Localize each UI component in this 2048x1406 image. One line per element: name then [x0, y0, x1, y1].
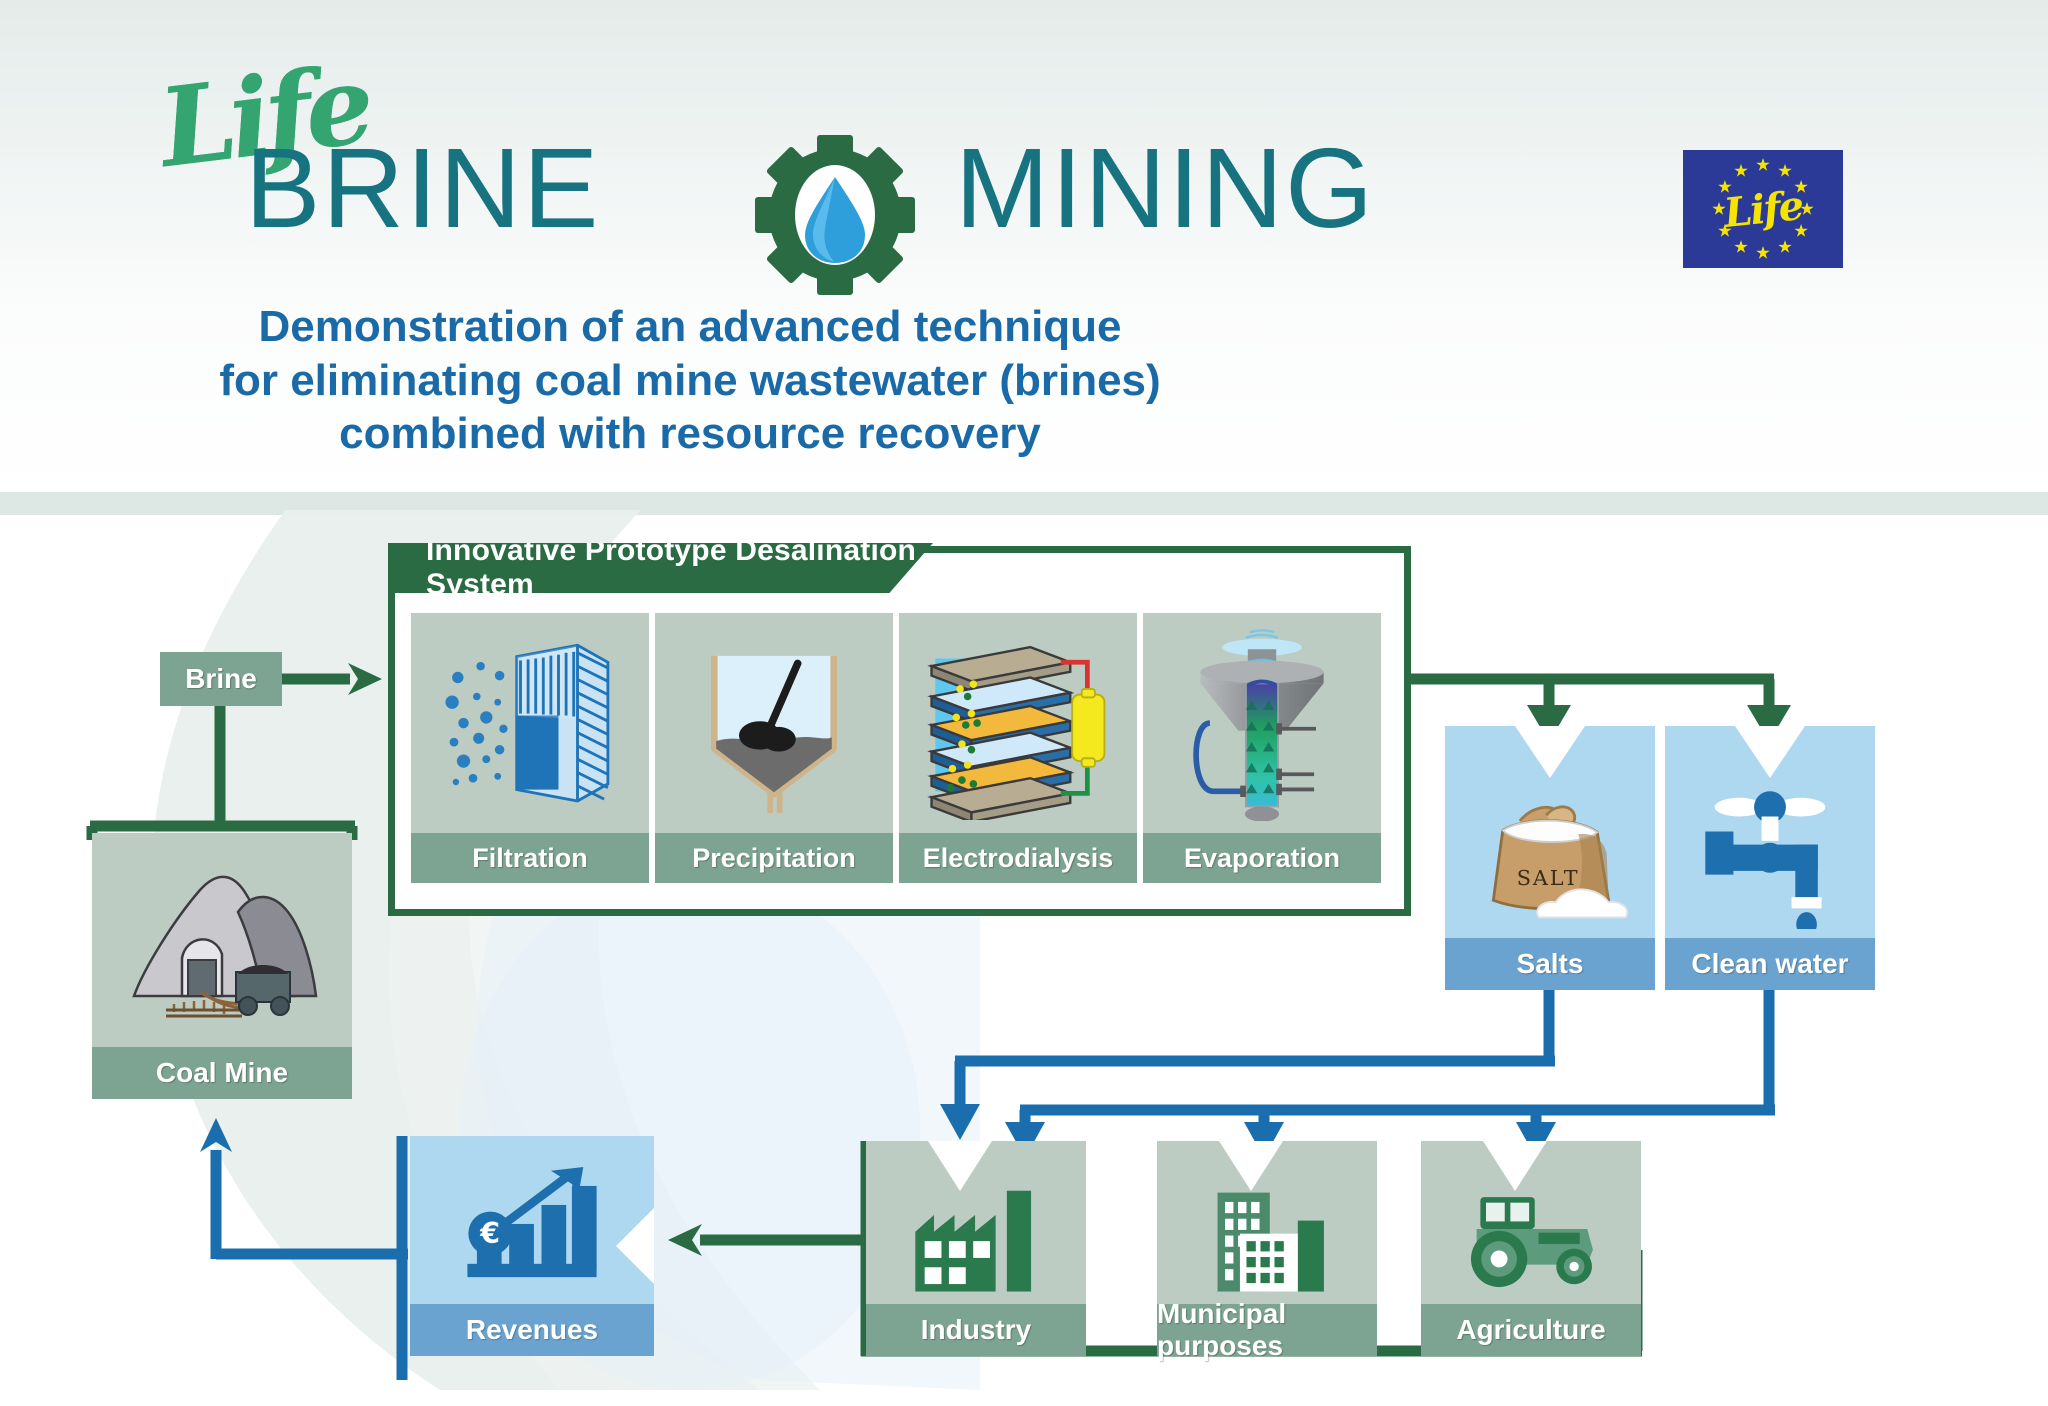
precipitation-tank-icon [655, 621, 893, 829]
salt-bag-icon: SALT [1445, 772, 1655, 936]
electrodialysis-stack-icon [899, 621, 1137, 829]
eu-life-flag-icon: Life [1683, 150, 1843, 268]
municipal-label: Municipal purposes [1157, 1304, 1377, 1356]
desalination-system-title: Innovative Prototype Desalination System [388, 543, 933, 593]
clean-water-label: Clean water [1665, 938, 1875, 990]
coal-mine-node[interactable]: Coal Mine [92, 833, 352, 1099]
subtitle-line-2: for eliminating coal mine wastewater (br… [0, 354, 1380, 408]
city-buildings-icon [1157, 1183, 1377, 1302]
clean-water-node[interactable]: Clean water [1665, 726, 1875, 990]
brine-label: Brine [185, 663, 257, 695]
industry-node[interactable]: Industry [866, 1141, 1086, 1356]
step-filtration[interactable]: Filtration [411, 613, 649, 883]
municipal-node[interactable]: Municipal purposes [1157, 1141, 1377, 1356]
agriculture-node[interactable]: Agriculture [1421, 1141, 1641, 1356]
evaporation-column-icon [1143, 621, 1381, 829]
tractor-icon [1421, 1183, 1641, 1302]
step-electrodialysis[interactable]: Electrodialysis [899, 613, 1137, 883]
project-logo: Life BRINE MINING [160, 40, 1220, 225]
industry-label: Industry [866, 1304, 1086, 1356]
salts-label: Salts [1445, 938, 1655, 990]
step-precipitation-label: Precipitation [655, 833, 893, 883]
logo-mining-text: MINING [955, 132, 1375, 245]
step-electrodialysis-label: Electrodialysis [899, 833, 1137, 883]
page-subtitle: Demonstration of an advanced technique f… [0, 300, 1380, 461]
coal-mine-icon [92, 841, 352, 1045]
step-filtration-label: Filtration [411, 833, 649, 883]
eu-life-label: Life [1677, 142, 1848, 276]
filtration-membrane-icon [411, 621, 649, 829]
subtitle-line-3: combined with resource recovery [0, 407, 1380, 461]
salts-node[interactable]: SALT Salts [1445, 726, 1655, 990]
step-precipitation[interactable]: Precipitation [655, 613, 893, 883]
revenues-node[interactable]: € Revenues [410, 1136, 654, 1356]
agriculture-label: Agriculture [1421, 1304, 1641, 1356]
infographic-canvas: Life BRINE MINING [0, 0, 2048, 1406]
water-tap-icon [1665, 772, 1875, 936]
gear-waterdrop-icon [755, 135, 915, 295]
step-evaporation-label: Evaporation [1143, 833, 1381, 883]
subtitle-line-1: Demonstration of an advanced technique [0, 300, 1380, 354]
svg-text:€: € [479, 1217, 500, 1250]
logo-brine-text: BRINE [245, 132, 600, 245]
brine-node[interactable]: Brine [160, 652, 282, 706]
factory-icon [866, 1183, 1086, 1302]
revenues-label: Revenues [410, 1304, 654, 1356]
euro-growth-chart-icon: € [410, 1144, 654, 1302]
svg-text:SALT: SALT [1517, 866, 1580, 890]
step-evaporation[interactable]: Evaporation [1143, 613, 1381, 883]
coal-mine-label: Coal Mine [92, 1047, 352, 1099]
